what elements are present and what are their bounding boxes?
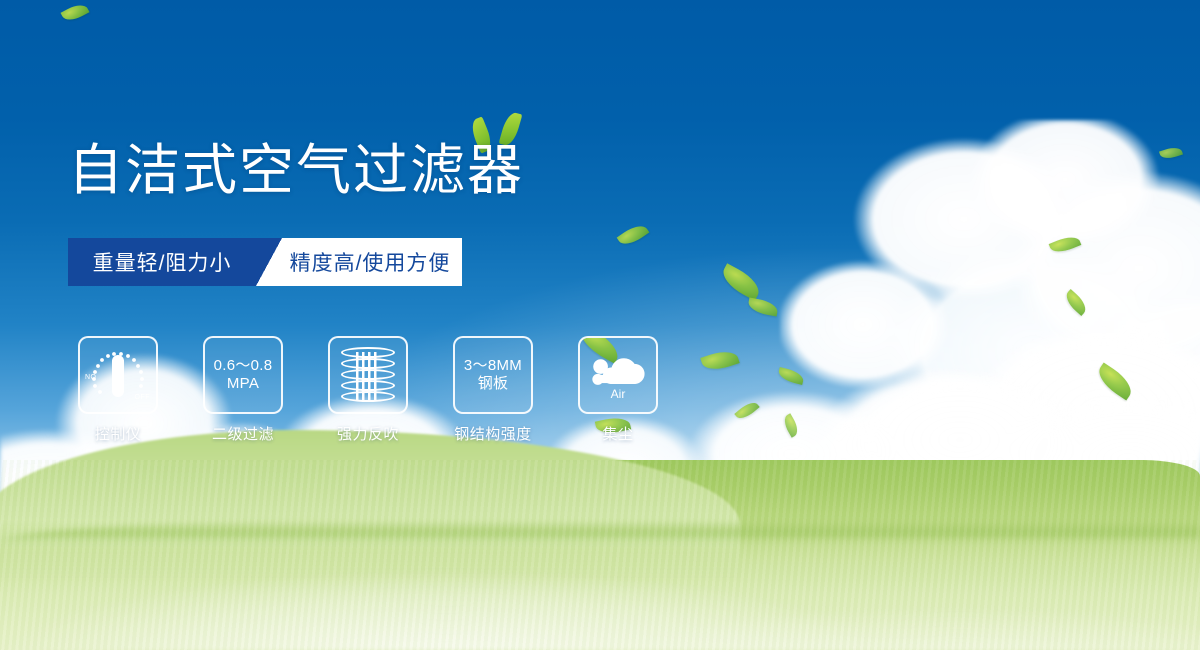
filter-ring-icon bbox=[341, 358, 395, 369]
dial-gauge-icon: NO OFF bbox=[87, 346, 149, 404]
feature-label: 钢结构强度 bbox=[453, 423, 533, 444]
feature-item-steel-strength[interactable]: 3～8MM 钢板 钢结构强度 bbox=[453, 336, 533, 444]
steel-line-1: 3～8MM bbox=[464, 357, 522, 375]
dial-on-label: NO bbox=[85, 374, 97, 381]
feature-item-secondary-filter[interactable]: 0.6～0.8 MPA 二级过滤 bbox=[203, 336, 283, 444]
feature-icon-box: 3～8MM 钢板 bbox=[453, 336, 533, 414]
air-cloud-icon: Air bbox=[586, 351, 650, 399]
feature-icon-box: Air bbox=[578, 336, 658, 414]
filter-ring-icon bbox=[341, 380, 395, 391]
feature-icon-box: NO OFF bbox=[78, 336, 158, 414]
filter-ring-icon bbox=[341, 391, 395, 402]
steel-line-2: 钢板 bbox=[478, 375, 509, 393]
dial-pointer-icon bbox=[112, 355, 124, 397]
feature-item-controller[interactable]: NO OFF 控制仪 bbox=[78, 336, 158, 444]
feature-label: 强力反吹 bbox=[328, 423, 408, 444]
feature-label: 集尘 bbox=[578, 423, 658, 444]
feature-icon-box: 0.6～0.8 MPA bbox=[203, 336, 283, 414]
subtitle-right: 精度高/使用方便 bbox=[282, 238, 462, 286]
subtitle-left: 重量轻/阻力小 bbox=[68, 238, 256, 286]
feature-label: 控制仪 bbox=[78, 423, 158, 444]
pressure-line-2: MPA bbox=[227, 375, 259, 393]
air-label: Air bbox=[586, 387, 650, 401]
dial-off-label: OFF bbox=[135, 394, 151, 401]
grass-texture bbox=[0, 460, 1200, 650]
feature-item-pulse-jet[interactable]: 强力反吹 bbox=[328, 336, 408, 444]
filter-cartridge-icon bbox=[341, 347, 395, 403]
filter-ring-icon bbox=[341, 369, 395, 380]
feature-list: NO OFF 控制仪 0.6～0.8 MPA 二级过滤 bbox=[78, 336, 658, 444]
subtitle-strip: 重量轻/阻力小 精度高/使用方便 bbox=[68, 238, 462, 286]
feature-item-dust-collection[interactable]: Air 集尘 bbox=[578, 336, 658, 444]
feature-label: 二级过滤 bbox=[203, 423, 283, 444]
page-title: 自洁式空气过滤器 bbox=[68, 143, 524, 198]
pressure-line-1: 0.6～0.8 bbox=[214, 357, 273, 375]
subtitle-divider bbox=[256, 238, 282, 286]
product-hero-banner: 自洁式空气过滤器 重量轻/阻力小 精度高/使用方便 bbox=[0, 0, 1200, 650]
feature-icon-box bbox=[328, 336, 408, 414]
filter-ring-icon bbox=[341, 347, 395, 358]
